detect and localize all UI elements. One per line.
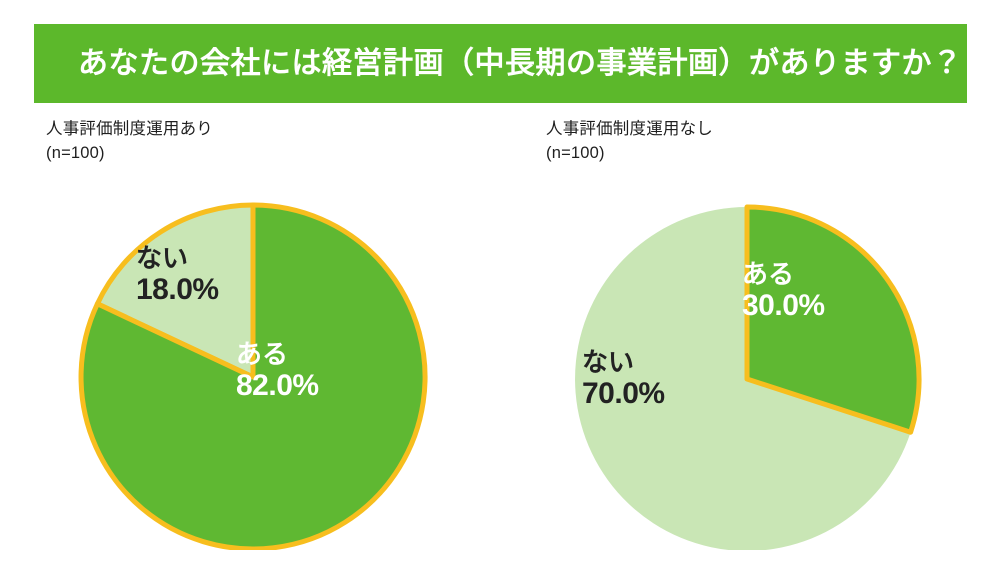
chart-panel-right: 人事評価制度運用なし (n=100) ある 30.0% ない 70.0% xyxy=(546,118,1000,550)
pie-chart-left: ない 18.0% ある 82.0% xyxy=(46,180,516,550)
slide-canvas: あなたの会社には経営計画（中長期の事業計画）がありますか？ 人事評価制度運用あり… xyxy=(0,0,1000,563)
chart-caption-right-text: 人事評価制度運用なし xyxy=(546,120,713,138)
pie-chart-right: ある 30.0% ない 70.0% xyxy=(546,180,1000,550)
chart-caption-left-text: 人事評価制度運用あり xyxy=(46,120,213,138)
pie-chart-right-svg xyxy=(546,180,966,550)
chart-caption-right: 人事評価制度運用なし (n=100) xyxy=(546,118,1000,166)
pie-chart-left-svg xyxy=(46,180,466,550)
header-banner: あなたの会社には経営計画（中長期の事業計画）がありますか？ xyxy=(34,24,967,103)
page-title: あなたの会社には経営計画（中長期の事業計画）がありますか？ xyxy=(78,47,963,80)
chart-panel-left: 人事評価制度運用あり (n=100) ない 18.0% ある 82.0% xyxy=(46,118,516,550)
chart-sample-size-left: (n=100) xyxy=(46,142,516,166)
chart-sample-size-right: (n=100) xyxy=(546,142,1000,166)
chart-caption-left: 人事評価制度運用あり (n=100) xyxy=(46,118,516,166)
